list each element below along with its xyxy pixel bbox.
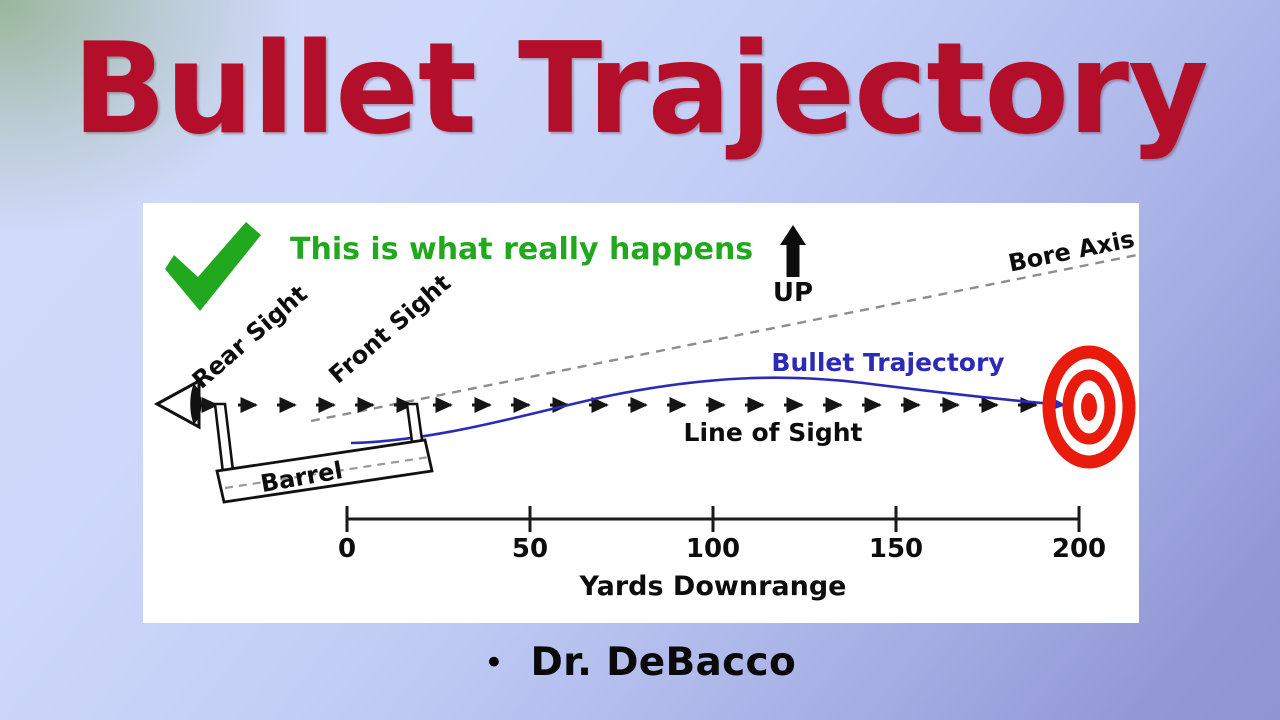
- scale-tick-label-0: 0: [338, 534, 356, 564]
- author-bullet-line: • Dr. DeBacco: [0, 640, 1280, 685]
- scale-axis-label: Yards Downrange: [579, 571, 847, 602]
- bore-axis-label: Bore Axis: [1006, 225, 1137, 278]
- line-of-sight-label: Line of Sight: [684, 418, 863, 447]
- eye-icon: [157, 381, 202, 427]
- slide-canvas: Bullet Trajectory This is what really ha…: [0, 0, 1280, 720]
- scale-tick-label-50: 50: [512, 534, 548, 564]
- diagram-headline: This is what really happens: [290, 232, 753, 267]
- scale-tick-label-150: 150: [869, 534, 923, 564]
- scale-tick-label-200: 200: [1052, 534, 1106, 564]
- front-sight-label: Front Sight: [323, 269, 456, 389]
- distance-scale: [347, 506, 1079, 532]
- scale-tick-label-100: 100: [686, 534, 740, 564]
- bullet-trajectory-label: Bullet Trajectory: [771, 348, 1004, 377]
- page-title: Bullet Trajectory: [13, 26, 1267, 152]
- up-arrow-icon: [780, 225, 806, 277]
- author-name: Dr. DeBacco: [530, 640, 796, 685]
- bullet-point-icon: •: [484, 643, 504, 683]
- check-mark-icon: [165, 222, 261, 311]
- bullseye-target: [1049, 352, 1129, 462]
- diagram-panel: This is what really happens UP Bore Axis: [143, 203, 1139, 623]
- bullet-trajectory-diagram: This is what really happens UP Bore Axis: [143, 203, 1139, 623]
- up-arrow-label: UP: [773, 278, 813, 308]
